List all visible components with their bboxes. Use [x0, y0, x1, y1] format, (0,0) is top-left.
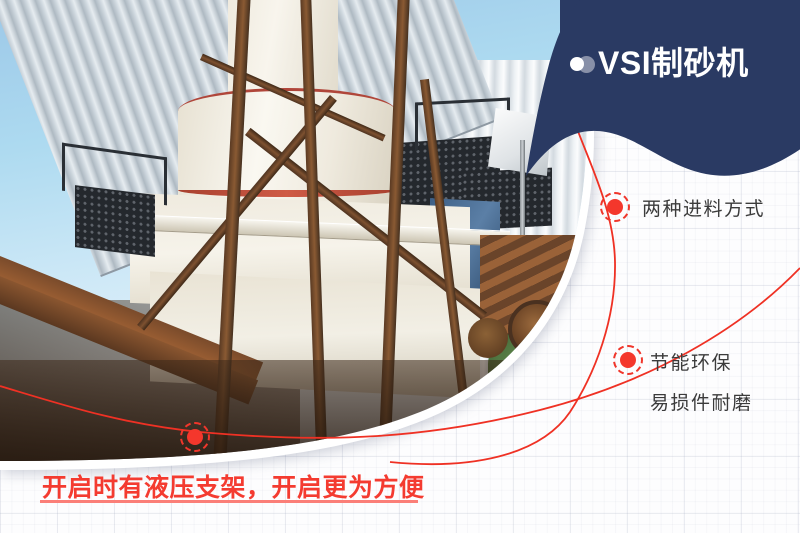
page-title: VSI制砂机 [598, 38, 749, 84]
photo-white-border [0, 0, 600, 470]
photo-pulley-small [468, 318, 508, 358]
photo-image [0, 0, 600, 470]
callout-label-wear: 易损件耐磨 [650, 388, 753, 415]
callout-label-energy: 节能环保 [650, 348, 732, 375]
callout-label-feeding: 两种进料方式 [642, 194, 765, 221]
red-dot-marker-icon [607, 199, 623, 215]
dot-bullet-icon [570, 57, 584, 71]
marker-energy[interactable] [613, 345, 643, 375]
marker-caption[interactable] [180, 422, 210, 452]
bottom-caption: 开启时有液压支架，开启更为方便 [42, 468, 425, 504]
red-dot-marker-icon [620, 352, 636, 368]
red-dot-marker-icon [187, 429, 203, 445]
machine-photo [0, 0, 600, 470]
photo-shrub-back [540, 300, 600, 370]
photo-pulley-wheel [508, 300, 566, 358]
photo-ground-shadow [0, 360, 600, 470]
promo-banner: VSI制砂机 两种进料方式 节能环保 易损件耐磨 开启时有液压支架，开启更为方便 [0, 0, 800, 533]
bottom-caption-underline [40, 500, 418, 503]
marker-feeding[interactable] [600, 192, 630, 222]
